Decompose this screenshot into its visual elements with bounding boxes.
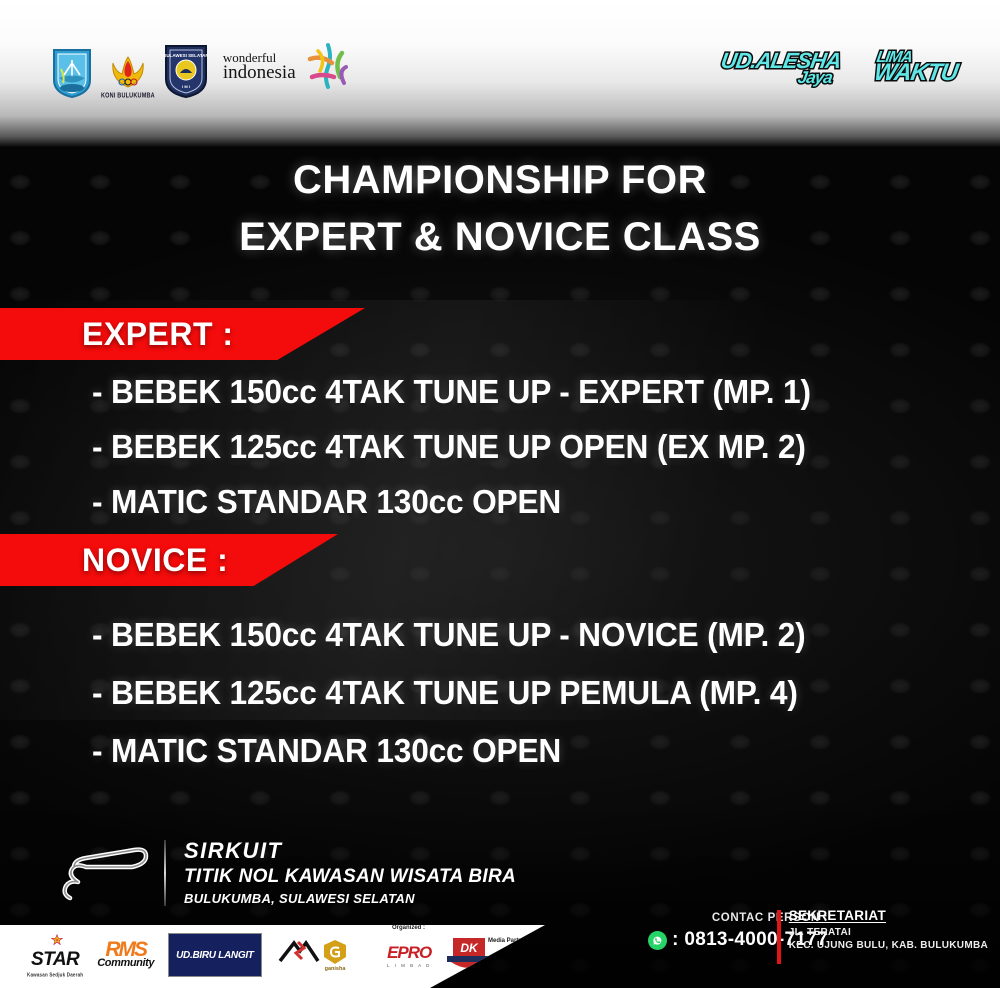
epro-text: EPRO (387, 943, 431, 963)
circuit-track-icon (52, 836, 160, 910)
title-line-1: CHAMPIONSHIP FOR (0, 155, 1000, 205)
expert-class-list: - BEBEK 150cc 4TAK TUNE UP - EXPERT (MP.… (92, 364, 972, 529)
expert-banner-label: EXPERT : (82, 316, 234, 353)
list-item: - BEBEK 150cc 4TAK TUNE UP - NOVICE (MP.… (92, 606, 937, 664)
header-left-logo-group: KONI BULUKUMBA SULAWESI SELATAN I M I wo… (52, 37, 356, 99)
ganisha-text: ganisha (325, 966, 346, 972)
circuit-location: BULUKUMBA, SULAWESI SELATAN (184, 890, 516, 908)
secretariat-district: KEC. UJUNG BULU, KAB. BULUKUMBA (789, 940, 988, 951)
lima-waktu-logo: LIMA WAKTU (872, 49, 967, 87)
organized-label: Organized : (392, 925, 425, 931)
svg-text:I M I: I M I (182, 84, 190, 89)
ganisha-mark (321, 938, 349, 966)
bulukumba-regency-crest (52, 47, 92, 99)
list-item: - MATIC STANDAR 130cc OPEN (92, 474, 937, 529)
circuit-name: TITIK NOL KAWASAN WISATA BIRA (184, 865, 516, 889)
list-item: - BEBEK 125cc 4TAK TUNE UP PEMULA (MP. 4… (92, 664, 937, 722)
waktu-text: WAKTU (872, 59, 959, 87)
rms-text: RMS (105, 941, 146, 958)
poster-title: CHAMPIONSHIP FOR EXPERT & NOVICE CLASS (0, 155, 1000, 263)
list-item: - BEBEK 150cc 4TAK TUNE UP - EXPERT (MP.… (92, 364, 937, 419)
list-item: - MATIC STANDAR 130cc OPEN (92, 722, 937, 780)
wonderful-indonesia-mark (298, 37, 356, 95)
ud-biru-langit-logo: UD.BIRU LANGIT (168, 933, 261, 977)
star-caption: Kawasan Sedjuk Daerah (27, 971, 83, 978)
whatsapp-icon[interactable] (648, 931, 667, 950)
wonderful-indonesia-logo: wonderful indonesia (223, 37, 356, 95)
rms-community-logo: RMS Community (97, 933, 154, 977)
poster-header: KONI BULUKUMBA SULAWESI SELATAN I M I wo… (0, 0, 1000, 148)
secretariat-title: SEKRETARIAT (789, 908, 988, 923)
secretariat-block: SEKRETARIAT JL. TERATAI KEC. UJUNG BULU,… (777, 908, 988, 951)
koni-bulukumba-emblem: KONI BULUKUMBA (101, 50, 155, 99)
circuit-divider (164, 840, 166, 906)
epro-logo: EPRO L I M B A D (387, 933, 431, 977)
header-right-sponsor-group: UD.ALESHA Jaya LIMA WAKTU (720, 48, 964, 88)
koni-caption: KONI BULUKUMBA (101, 92, 155, 100)
epro-caption: L I M B A D (387, 963, 431, 968)
star-logo: 29 STAR Kawasan Sedjuk Daerah (30, 933, 83, 977)
secretariat-street: JL. TERATAI (789, 927, 988, 938)
ud-alesha-jaya-logo: UD.ALESHA Jaya (717, 48, 843, 88)
imi-sulawesi-selatan-crest: SULAWESI SELATAN I M I (164, 43, 208, 99)
title-line-2: EXPERT & NOVICE CLASS (0, 211, 1000, 263)
novice-class-list: - BEBEK 150cc 4TAK TUNE UP - NOVICE (MP.… (92, 606, 972, 780)
akp-logo: AKP (276, 933, 307, 977)
star-icon: 29 (40, 933, 74, 947)
list-item: - BEBEK 125cc 4TAK TUNE UP OPEN (EX MP. … (92, 419, 937, 474)
star-text: STAR (31, 949, 79, 971)
novice-banner-label: NOVICE : (82, 542, 228, 579)
circuit-heading: SIRKUIT (184, 838, 516, 863)
race-poster: KONI BULUKUMBA SULAWESI SELATAN I M I wo… (0, 0, 1000, 988)
svg-text:DK: DK (461, 941, 480, 955)
rms-caption: Community (97, 957, 154, 969)
circuit-info: SIRKUIT TITIK NOL KAWASAN WISATA BIRA BU… (52, 836, 516, 910)
ganisha-logo: ganisha (321, 933, 349, 977)
wonderful-indonesia-line2: indonesia (223, 63, 296, 82)
svg-text:SULAWESI SELATAN: SULAWESI SELATAN (164, 53, 208, 58)
biru-langit-text: UD.BIRU LANGIT (176, 950, 253, 961)
